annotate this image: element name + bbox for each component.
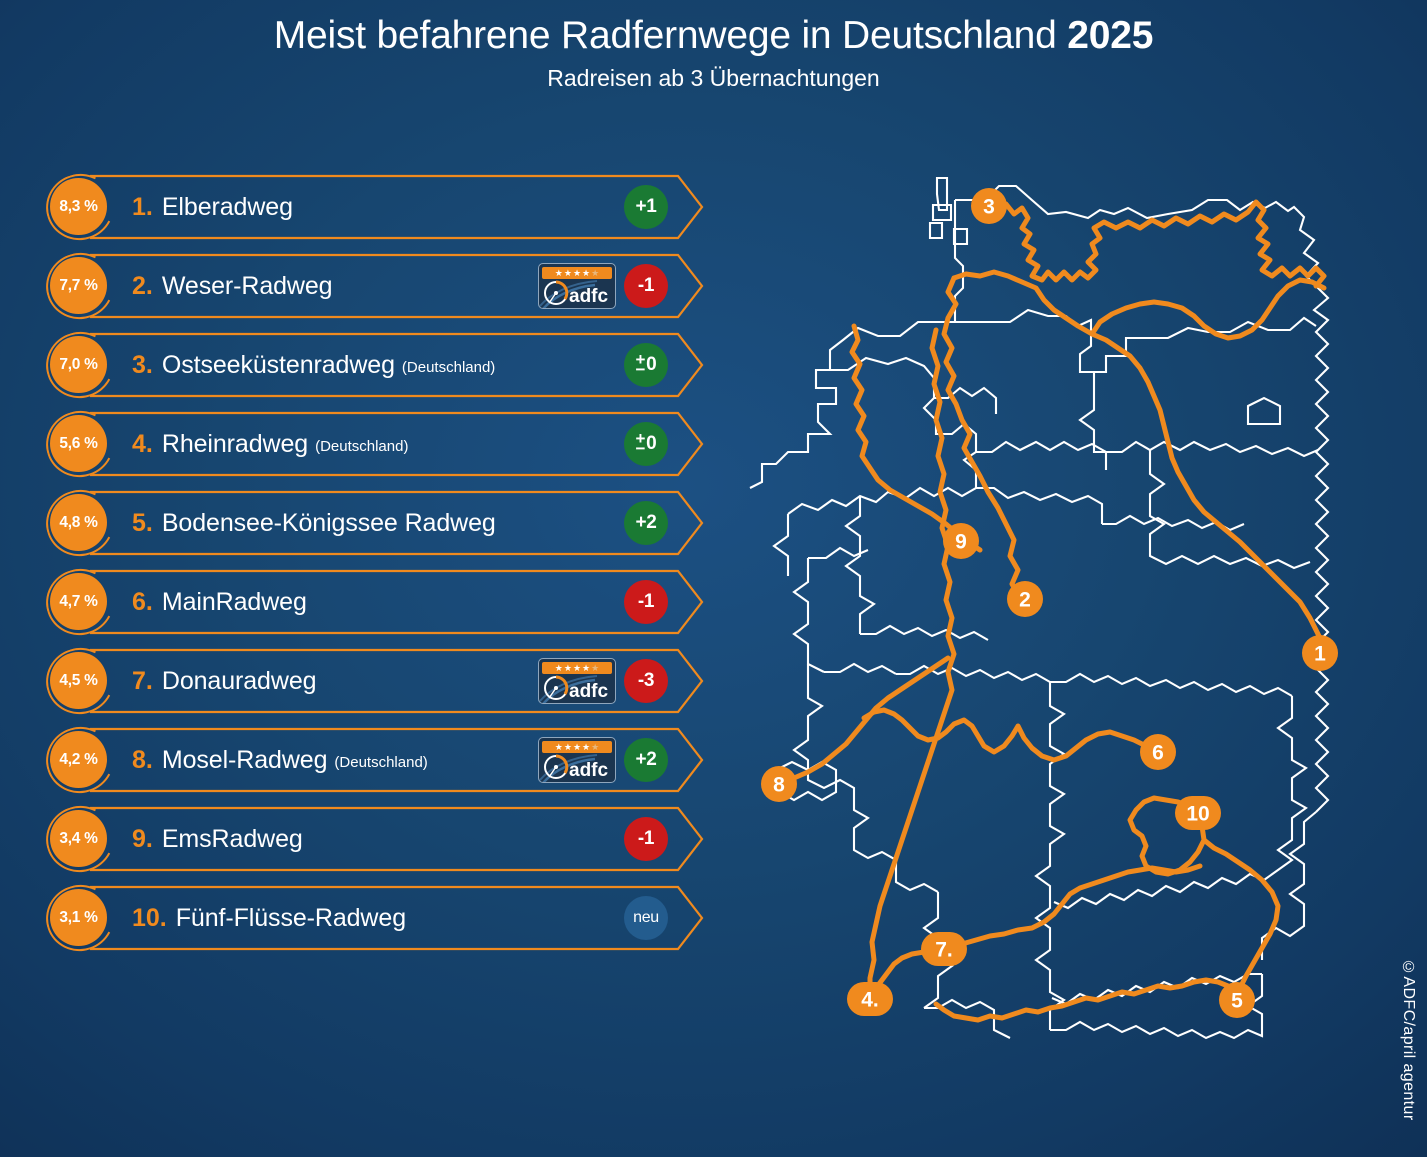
percent-bubble: 8,3 % [46,174,114,240]
map-marker-label: 9 [955,531,967,554]
map-marker-label: 8 [773,774,785,797]
map-marker[interactable]: 8 [761,766,797,802]
page-title-year: 2025 [1067,14,1153,57]
route-label-block: 7.Donauradweg [132,646,316,716]
route-elberadweg [1092,334,1324,646]
rank-number: 10. [132,904,167,933]
percent-bubble-circle: 3,4 % [50,810,107,867]
adfc-logo: adfc [539,674,615,703]
percent-bubble-circle: 4,5 % [50,652,107,709]
rank-change-badge: -1 [624,817,668,861]
rank-number: 5. [132,509,153,538]
percent-bubble-circle: 4,7 % [50,573,107,630]
rank-change-badge: neu [624,896,668,940]
copyright-notice: ©ADFC/april agentur [1399,959,1417,1121]
percent-bubble: 4,2 % [46,727,114,793]
star-icon: ★ [591,743,599,752]
plus-minus-icon: +− [636,434,646,454]
header: Meist befahrene Radfernwege in Deutschla… [0,14,1427,92]
percent-bubble: 3,1 % [46,885,114,951]
ranking-row[interactable]: 4,5 %7.Donauradweg★★★★★adfc-3 [46,646,706,716]
star-icon: ★ [564,743,572,752]
map-marker[interactable]: 1 [1302,635,1338,671]
row-right-group: ★★★★★adfc-1 [538,251,668,321]
map-marker-label: 6 [1152,742,1164,765]
route-name-qualifier: (Deutschland) [402,359,495,376]
rank-change-badge: -1 [624,264,668,308]
percent-value: 3,1 % [59,909,97,927]
map-marker-label: 1 [1314,643,1326,666]
rank-change-value: 0 [646,354,656,376]
percent-value: 3,4 % [59,830,97,848]
star-icon: ★ [582,743,590,752]
map-marker[interactable]: 9 [943,523,979,559]
row-right-group: -1 [624,567,668,637]
plus-minus-icon: +− [636,355,646,375]
route-label-block: 10.Fünf-Flüsse-Radweg [132,883,406,953]
ranking-list: 8,3 %1.Elberadweg+17,7 %2.Weser-Radweg★★… [46,172,706,962]
route-label-block: 5.Bodensee-Königssee Radweg [132,488,496,558]
route-connector-5-10 [1204,840,1278,994]
percent-bubble: 3,4 % [46,806,114,872]
route-name-qualifier: (Deutschland) [315,438,408,455]
svg-text:adfc: adfc [569,286,609,307]
row-right-group: +−0 [624,330,668,400]
percent-bubble-circle: 4,8 % [50,494,107,551]
percent-bubble: 4,5 % [46,648,114,714]
star-icon: ★ [582,269,590,278]
map-marker[interactable]: 4. [847,982,893,1016]
rank-number: 8. [132,746,153,775]
star-icon: ★ [564,664,572,673]
map-marker-label: 10 [1186,803,1209,826]
rank-change-value: 0 [646,433,656,455]
row-right-group: +−0 [624,409,668,479]
route-name-qualifier: (Deutschland) [334,754,427,771]
star-icon: ★ [573,743,581,752]
rank-change-badge: -1 [624,580,668,624]
route-name: MainRadweg [162,588,307,617]
percent-value: 7,0 % [59,356,97,374]
rank-number: 4. [132,430,153,459]
route-label-block: 9.EmsRadweg [132,804,303,874]
row-right-group: -1 [624,804,668,874]
adfc-star-bar: ★★★★★ [542,267,612,279]
route-label-block: 4.Rheinradweg(Deutschland) [132,409,408,479]
star-icon: ★ [564,269,572,278]
route-name: Donauradweg [162,667,317,696]
rank-number: 9. [132,825,153,854]
percent-value: 5,6 % [59,435,97,453]
map-marker-label: 2 [1019,589,1031,612]
percent-bubble-circle: 7,0 % [50,336,107,393]
percent-bubble-circle: 7,7 % [50,257,107,314]
route-bodensee-koenigssee-radweg [936,980,1237,1020]
route-name: Rheinradweg [162,430,308,459]
rank-change-badge: +−0 [624,422,668,466]
svg-text:adfc: adfc [569,760,609,781]
ranking-row[interactable]: 4,2 %8.Mosel-Radweg(Deutschland)★★★★★adf… [46,725,706,795]
rank-change-badge: +2 [624,501,668,545]
rank-change-badge: +1 [624,185,668,229]
ranking-row[interactable]: 3,4 %9.EmsRadweg-1 [46,804,706,874]
route-label-block: 8.Mosel-Radweg(Deutschland) [132,725,428,795]
route-donauradweg [948,866,1200,948]
rank-change-badge: +2 [624,738,668,782]
ranking-row[interactable]: 7,0 %3.Ostseeküstenradweg(Deutschland)+−… [46,330,706,400]
percent-value: 4,7 % [59,593,97,611]
route-name: Mosel-Radweg [162,746,328,775]
map-marker[interactable]: 10 [1175,796,1221,830]
row-right-group: +2 [624,488,668,558]
page-title: Meist befahrene Radfernwege in Deutschla… [0,14,1427,59]
rank-number: 6. [132,588,153,617]
map-marker[interactable]: 2 [1007,581,1043,617]
ranking-row[interactable]: 7,7 %2.Weser-Radweg★★★★★adfc-1 [46,251,706,321]
route-name: Ostseeküstenradweg [162,351,395,380]
page-subtitle: Radreisen ab 3 Übernachtungen [0,65,1427,92]
percent-bubble-circle: 4,2 % [50,731,107,788]
percent-value: 7,7 % [59,277,97,295]
route-name: Elberadweg [162,193,293,222]
route-label-block: 2.Weser-Radweg [132,251,333,321]
map-marker-label: 4. [861,989,879,1012]
map-marker[interactable]: 5 [1219,982,1255,1018]
rank-number: 2. [132,272,153,301]
percent-value: 4,8 % [59,514,97,532]
ranking-row[interactable]: 4,7 %6.MainRadweg-1 [46,567,706,637]
star-icon: ★ [573,664,581,673]
svg-text:adfc: adfc [569,681,609,702]
percent-bubble: 4,8 % [46,490,114,556]
germany-map: 392186107.4.5 [748,158,1358,1038]
ranking-row[interactable]: 3,1 %10.Fünf-Flüsse-Radwegneu [46,883,706,953]
percent-bubble: 5,6 % [46,411,114,477]
map-marker[interactable]: 3 [971,188,1007,224]
route-name: Fünf-Flüsse-Radweg [176,904,406,933]
page-title-main: Meist befahrene Radfernwege in Deutschla… [274,14,1068,57]
star-icon: ★ [582,664,590,673]
row-right-group: +1 [624,172,668,242]
map-marker-label: 5 [1231,990,1243,1013]
star-icon: ★ [591,664,599,673]
adfc-quality-badge-icon: ★★★★★adfc [538,263,616,309]
star-icon: ★ [555,664,563,673]
ranking-row[interactable]: 8,3 %1.Elberadweg+1 [46,172,706,242]
adfc-quality-badge-icon: ★★★★★adfc [538,658,616,704]
row-right-group: ★★★★★adfc-3 [538,646,668,716]
percent-bubble: 4,7 % [46,569,114,635]
adfc-logo: adfc [539,753,615,782]
percent-value: 4,2 % [59,751,97,769]
map-marker[interactable]: 7. [921,932,967,966]
route-label-block: 3.Ostseeküstenradweg(Deutschland) [132,330,495,400]
map-marker-label: 7. [935,939,953,962]
rank-number: 7. [132,667,153,696]
rank-change-badge: +−0 [624,343,668,387]
route-name: Bodensee-Königssee Radweg [162,509,496,538]
route-mainradweg [864,710,1158,760]
percent-bubble: 7,7 % [46,253,114,319]
percent-bubble: 7,0 % [46,332,114,398]
percent-value: 4,5 % [59,672,97,690]
ranking-row[interactable]: 4,8 %5.Bodensee-Königssee Radweg+2 [46,488,706,558]
route-ostseekuestenradweg [988,202,1324,286]
ranking-row[interactable]: 5,6 %4.Rheinradweg(Deutschland)+−0 [46,409,706,479]
adfc-logo: adfc [539,279,615,308]
star-icon: ★ [555,743,563,752]
route-name: EmsRadweg [162,825,303,854]
route-name: Weser-Radweg [162,272,333,301]
star-icon: ★ [555,269,563,278]
rank-number: 1. [132,193,153,222]
row-right-group: neu [624,883,668,953]
route-label-block: 6.MainRadweg [132,567,307,637]
adfc-star-bar: ★★★★★ [542,741,612,753]
star-icon: ★ [573,269,581,278]
percent-bubble-circle: 5,6 % [50,415,107,472]
map-marker[interactable]: 6 [1140,734,1176,770]
adfc-quality-badge-icon: ★★★★★adfc [538,737,616,783]
row-right-group: ★★★★★adfc+2 [538,725,668,795]
percent-value: 8,3 % [59,198,97,216]
star-icon: ★ [591,269,599,278]
percent-bubble-circle: 8,3 % [50,178,107,235]
map-marker-label: 3 [983,196,995,219]
percent-bubble-circle: 3,1 % [50,889,107,946]
rank-change-badge: -3 [624,659,668,703]
rank-number: 3. [132,351,153,380]
adfc-star-bar: ★★★★★ [542,662,612,674]
route-mosel-radweg [780,658,948,784]
route-label-block: 1.Elberadweg [132,172,293,242]
